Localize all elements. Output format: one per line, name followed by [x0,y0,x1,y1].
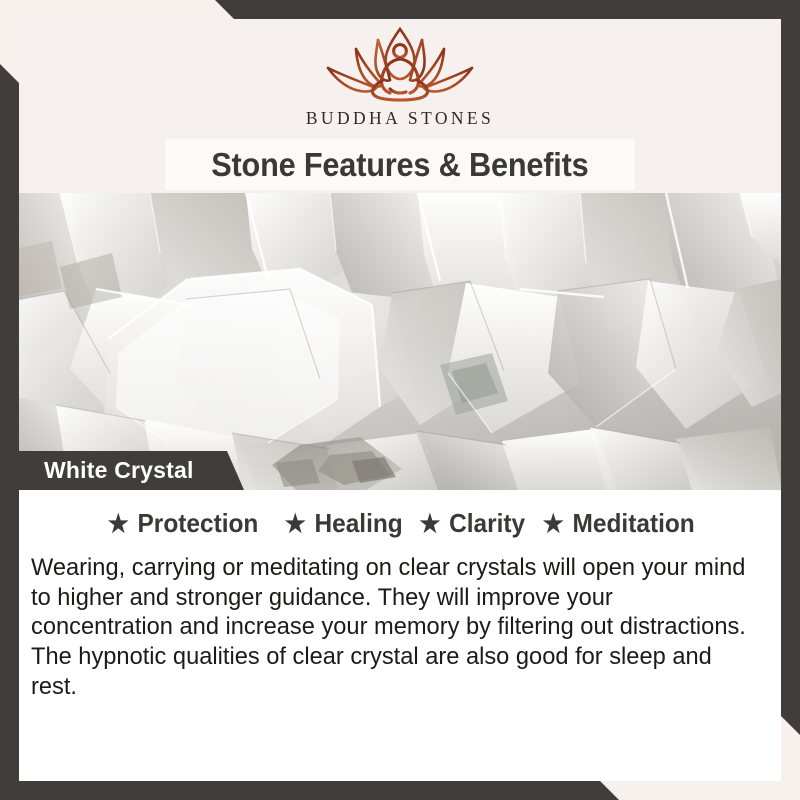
page-title: Stone Features & Benefits [211,146,588,184]
lotus-meditation-icon [312,23,488,107]
benefit-label-0: Protection [137,508,258,538]
star-icon: ★ [541,510,566,538]
photo-caption-label: White Crystal [44,457,194,484]
white-crystal-cluster-photo [0,193,782,490]
brand-name: BUDDHA STONES [306,108,494,129]
benefit-label-3: Meditation [572,508,694,538]
decorative-frame-left [0,0,19,800]
decorative-frame-bottom [0,781,800,800]
star-icon: ★ [417,510,442,538]
benefit-label-1: Healing [315,508,403,538]
benefit-item-0: ★ Protection [105,508,258,539]
benefit-item-1: ★ Healing [283,508,403,539]
decorative-frame-top [0,0,800,19]
crystal-photo-graphic [0,193,782,490]
benefit-label-2: Clarity [449,508,525,538]
benefit-item-3: ★ Meditation [541,508,695,539]
brand-logo: BUDDHA STONES [19,19,781,139]
infographic-page: BUDDHA STONES Stone Features & Benefits … [0,0,800,800]
star-icon: ★ [283,510,308,538]
description-paragraph: Wearing, carrying or meditating on clear… [31,553,747,701]
benefits-list: ★ Protection ★ Healing ★ Clarity ★ Medit… [19,508,781,539]
content-section: ★ Protection ★ Healing ★ Clarity ★ Medit… [19,490,781,781]
decorative-frame-right [781,0,800,800]
star-icon: ★ [105,510,130,538]
title-banner: Stone Features & Benefits [165,139,635,190]
photo-caption-badge: White Crystal [19,451,244,490]
benefit-item-2: ★ Clarity [417,508,525,539]
